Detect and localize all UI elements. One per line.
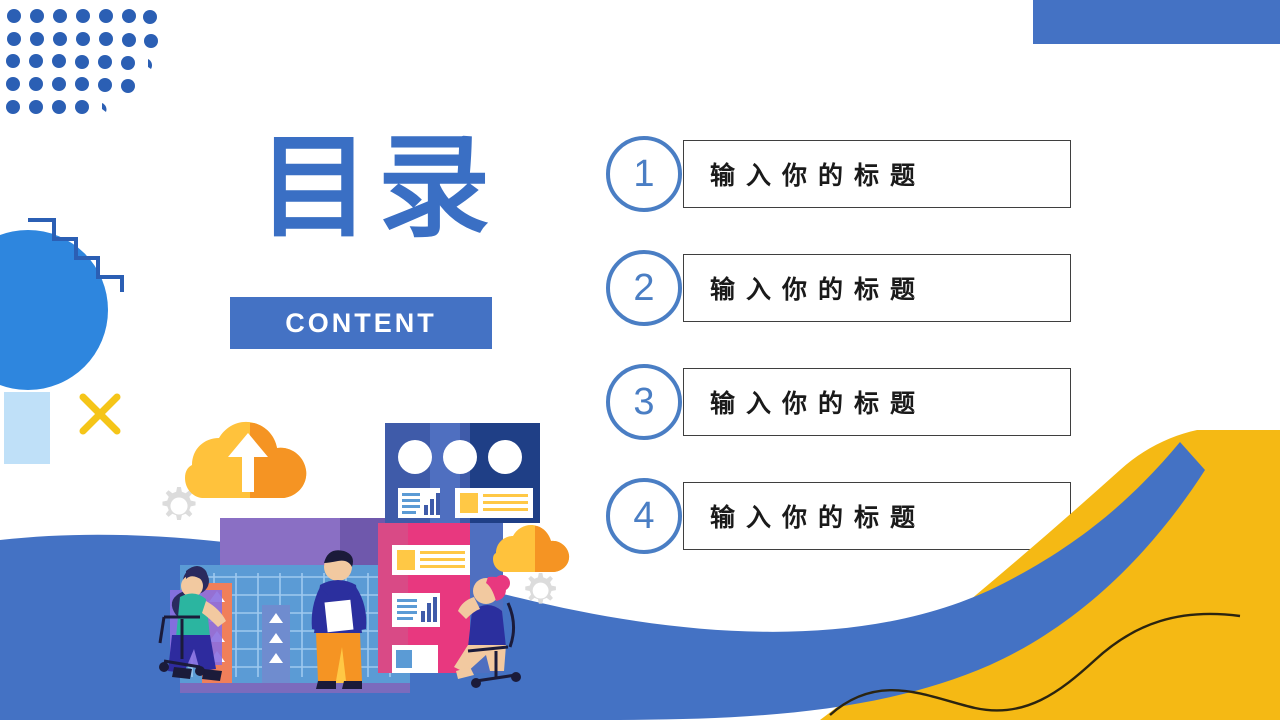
gear-icon [525, 573, 556, 604]
toc-number: 2 [633, 269, 654, 307]
toc-item-label: 输入你的标题 [710, 156, 926, 192]
page-title: 目录 [233, 128, 523, 249]
content-banner-label: CONTENT [285, 308, 437, 339]
cloud-icon [493, 525, 569, 572]
toc-number-circle: 4 [606, 478, 682, 554]
dot-grid-decoration [4, 4, 174, 124]
document-panel [385, 423, 540, 523]
toc-number: 4 [633, 497, 654, 535]
toc-item-label: 输入你的标题 [710, 384, 926, 420]
staircase-line-decoration [26, 206, 130, 292]
cloud-upload-icon [185, 422, 306, 498]
content-banner: CONTENT [230, 297, 492, 349]
toc-item-label: 输入你的标题 [710, 270, 926, 306]
top-right-accent-bar [1033, 0, 1280, 44]
toc-number-circle: 1 [606, 136, 682, 212]
toc-box[interactable]: 输入你的标题 [683, 254, 1071, 322]
toc-number: 1 [633, 155, 654, 193]
toc-item-3[interactable]: 输入你的标题 3 [600, 364, 1080, 440]
teamwork-illustration [130, 405, 600, 720]
toc-item-2[interactable]: 输入你的标题 2 [600, 250, 1080, 326]
toc-number-circle: 2 [606, 250, 682, 326]
toc-number-circle: 3 [606, 364, 682, 440]
toc-box[interactable]: 输入你的标题 [683, 140, 1071, 208]
toc-box[interactable]: 输入你的标题 [683, 368, 1071, 436]
slide-canvas: 目录 CONTENT 输入你的标题 1 输入你的标题 2 输入你的标题 [0, 0, 1280, 720]
toc-number: 3 [633, 383, 654, 421]
toc-item-1[interactable]: 输入你的标题 1 [600, 136, 1080, 212]
